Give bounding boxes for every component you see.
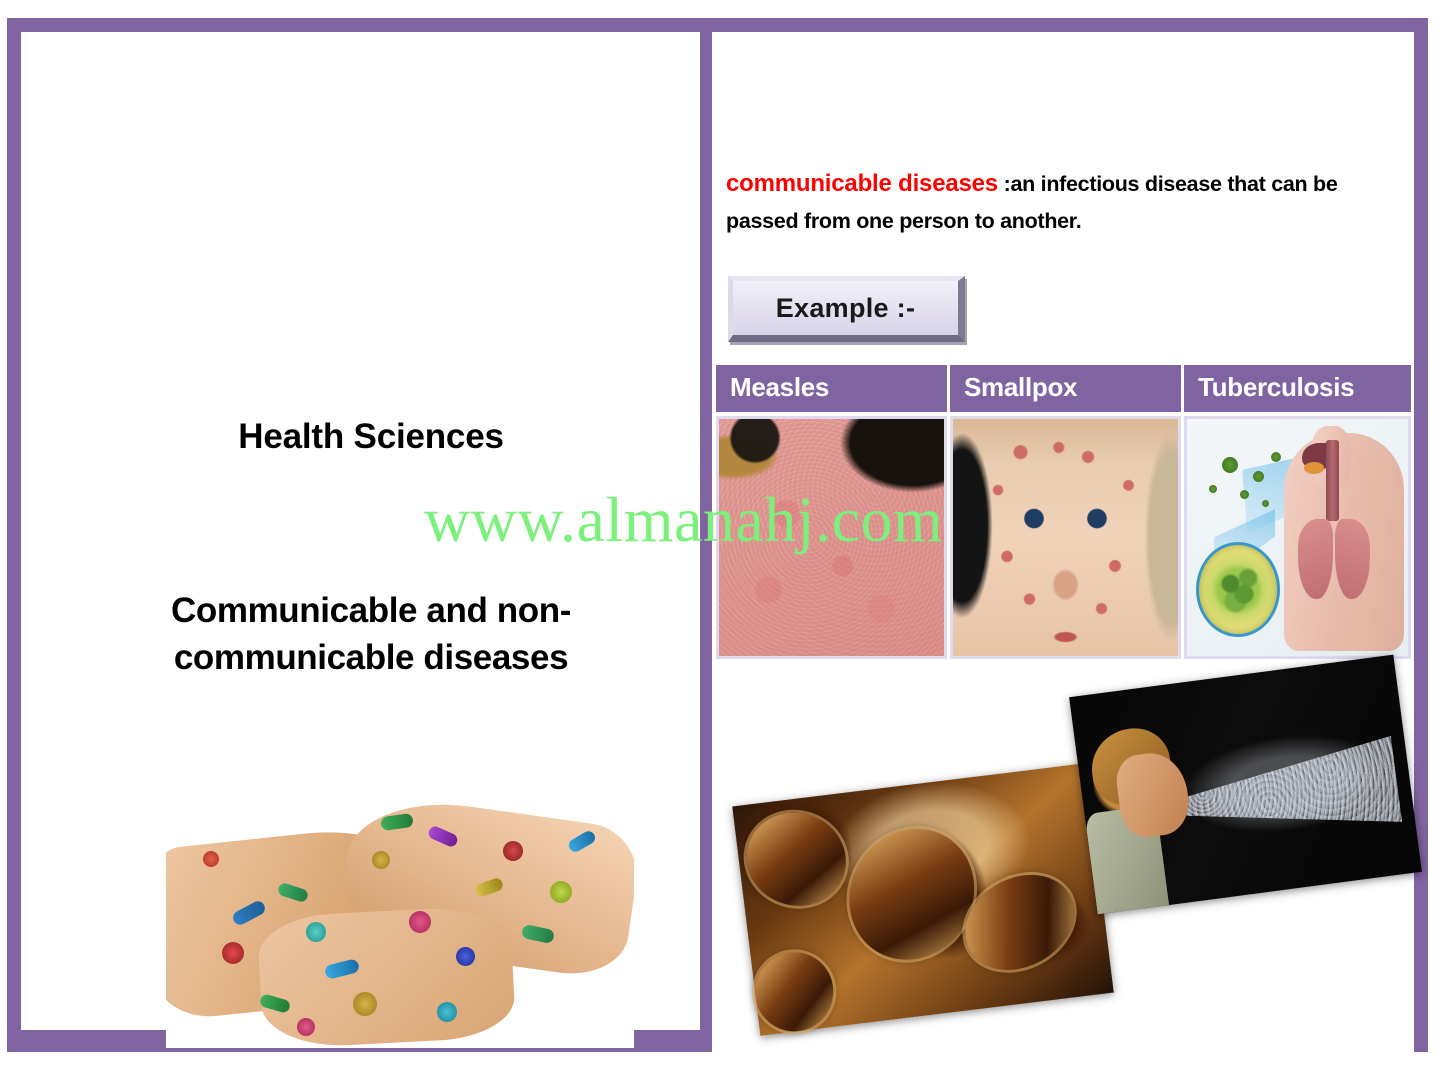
- left-panel: Health Sciences Communicable and non-com…: [21, 32, 712, 1038]
- germ-icon: [297, 1018, 315, 1036]
- examples-table: Measles Smallpox Tuberculosis: [716, 365, 1412, 659]
- frame-border-right: [1414, 18, 1428, 1052]
- table-cell-measles: [716, 416, 947, 659]
- hand-fingers-shape: [256, 905, 515, 1048]
- page-title-block: Health Sciences: [61, 417, 681, 457]
- slide-canvas: Health Sciences Communicable and non-com…: [0, 0, 1440, 1080]
- bacterium-shape: [751, 948, 838, 1035]
- page-subtitle: Communicable and non-communicable diseas…: [51, 587, 691, 682]
- tb-bacterium-icon: [1262, 500, 1269, 507]
- bacterium-shape: [825, 805, 998, 982]
- frame-border-top: [7, 18, 1428, 32]
- tb-bacterium-icon: [1222, 457, 1238, 473]
- germ-icon: [306, 922, 326, 942]
- left-panel-inner: Health Sciences Communicable and non-com…: [21, 32, 688, 1022]
- bacteria-microscope-image: [732, 763, 1113, 1036]
- germ-icon: [203, 851, 219, 867]
- page-title: Health Sciences: [61, 417, 681, 457]
- sneeze-droplet-spray: [1176, 730, 1403, 854]
- right-panel: communicable diseases :an infectious dis…: [712, 32, 1414, 1052]
- examples-table-header-row: Measles Smallpox Tuberculosis: [716, 365, 1412, 412]
- sneezing-man-image: [1069, 655, 1422, 915]
- tb-bacterium-icon: [1209, 485, 1217, 493]
- tb-bacterium-icon: [1271, 452, 1281, 462]
- germ-icon: [372, 851, 390, 869]
- frame-border-left: [7, 18, 21, 1041]
- example-button-wrapper: Example :-: [728, 276, 965, 342]
- tb-tongue-shape: [1304, 462, 1324, 474]
- example-button[interactable]: Example :-: [728, 276, 965, 342]
- bacterium-shape: [734, 799, 858, 919]
- definition-text: communicable diseases :an infectious dis…: [726, 165, 1398, 239]
- tuberculosis-lungs-image: [1187, 419, 1408, 656]
- germ-icon: [550, 881, 572, 903]
- table-cell-tuberculosis: [1184, 416, 1411, 659]
- column-header-measles: Measles: [716, 365, 947, 412]
- definition-term: communicable diseases: [726, 170, 998, 197]
- tb-trachea-shape: [1326, 440, 1339, 521]
- definition-separator: :: [998, 172, 1011, 196]
- column-header-smallpox: Smallpox: [950, 365, 1181, 412]
- tb-magnified-bacteria-circle: [1196, 542, 1280, 637]
- column-header-tuberculosis: Tuberculosis: [1184, 365, 1411, 412]
- tb-left-lung-shape: [1298, 519, 1333, 600]
- handshake-germs-image: [166, 795, 634, 1048]
- germ-icon: [503, 841, 523, 861]
- smallpox-child-face-image: [953, 419, 1178, 656]
- table-cell-smallpox: [950, 416, 1181, 659]
- germ-icon: [456, 947, 475, 966]
- measles-rash-image: [719, 419, 944, 656]
- examples-table-image-row: [716, 416, 1412, 659]
- germ-icon: [222, 942, 244, 964]
